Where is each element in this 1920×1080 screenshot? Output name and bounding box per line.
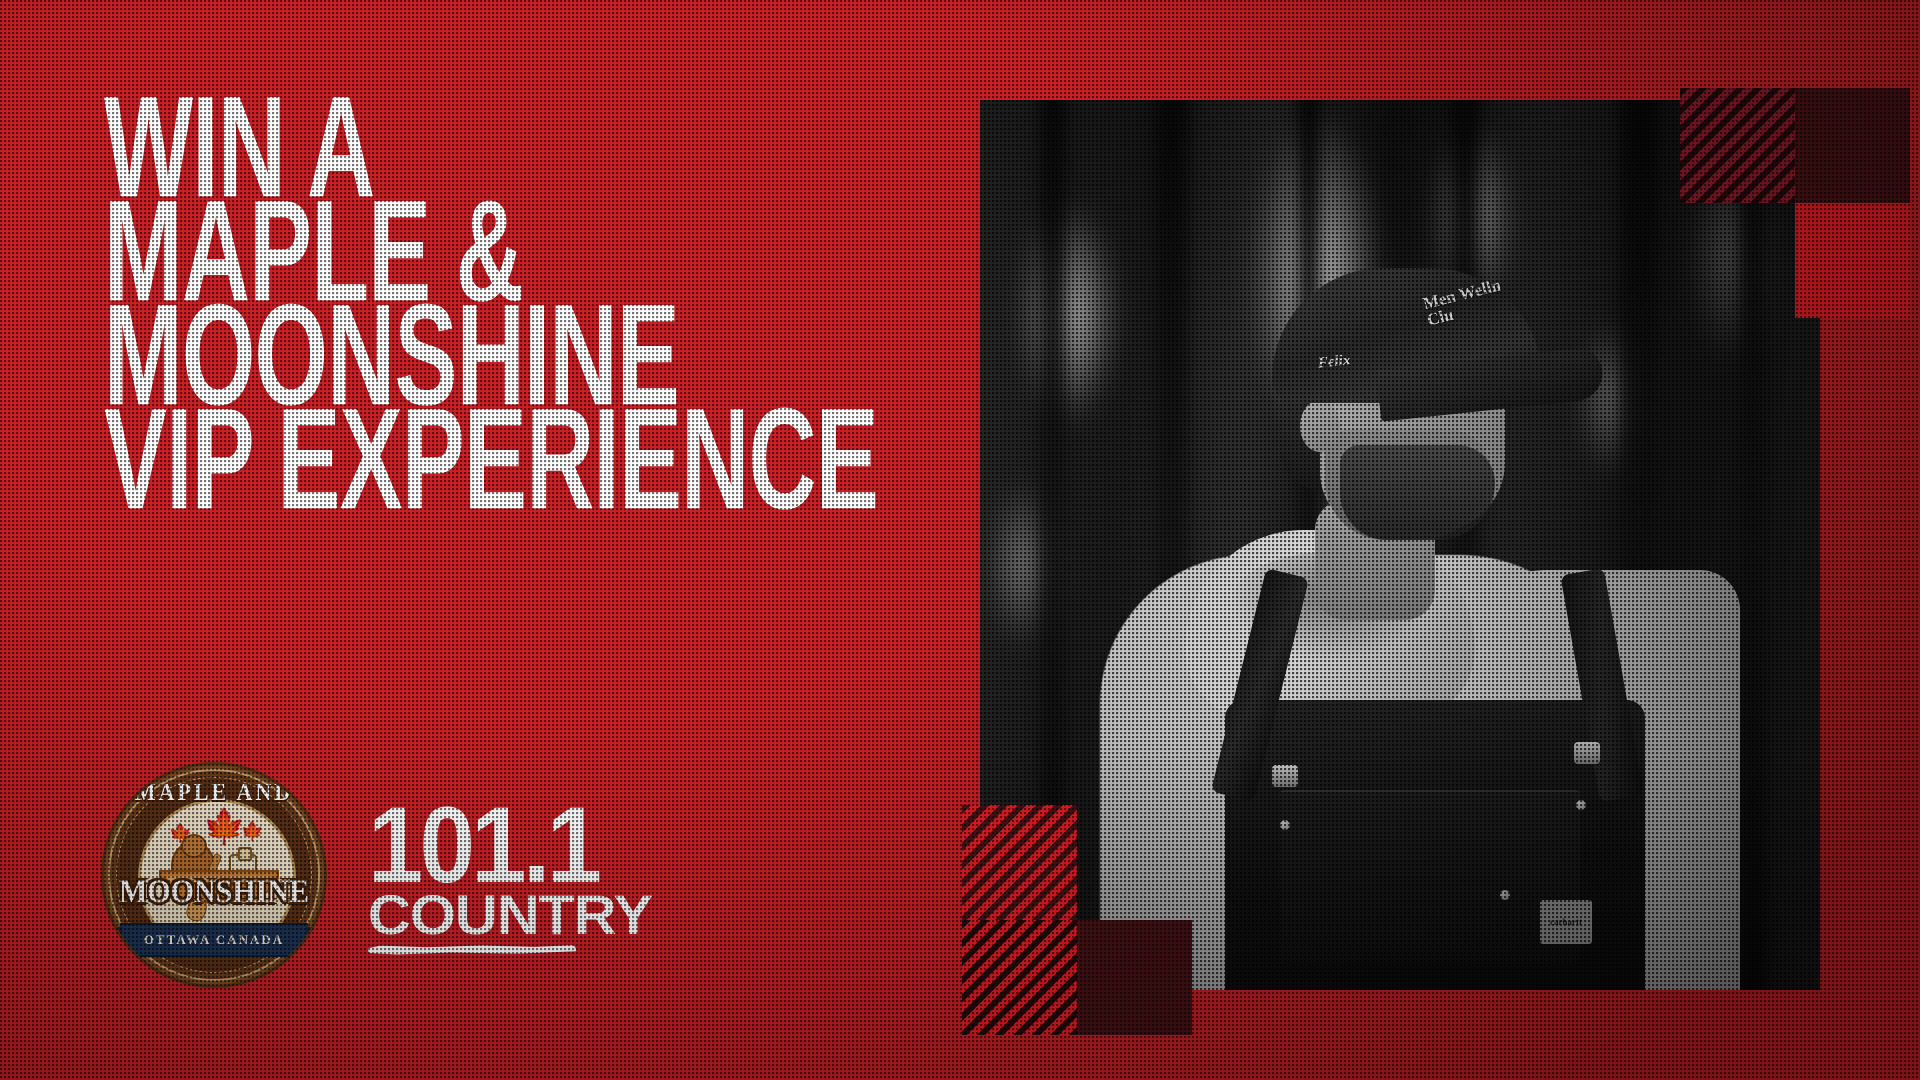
bib-pocket xyxy=(1280,790,1580,962)
rivet xyxy=(1576,800,1586,810)
cap-logo-text: Men Welln Clu xyxy=(1421,273,1518,328)
maple-leaf-icon-small: 🍁 xyxy=(241,822,263,840)
beard xyxy=(1340,445,1495,540)
logo-row: 🍁 🍁 🍁 XX MAPLE AND MOONSHINE OTTAWA CANA… xyxy=(104,765,636,985)
ear xyxy=(1300,400,1340,452)
square-striped-on-photo xyxy=(962,805,1077,920)
page-title: WIN A MAPLE & MOONSHINE VIP EXPERIENCE xyxy=(104,84,934,500)
radio-format: COUNTRY xyxy=(368,889,652,941)
deco-cluster-bottom-left xyxy=(962,805,1192,1035)
crest-ribbon-banner: OTTAWA CANADA xyxy=(120,923,308,957)
promo-banner: carhartt Men Welln Clu Felix WIN xyxy=(0,0,1920,1080)
square-striped-dark xyxy=(1680,88,1795,203)
carhartt-patch-label: carhartt xyxy=(1550,917,1582,927)
square-solid-maroon xyxy=(1077,920,1192,1035)
beaver-head xyxy=(181,834,207,858)
radio-station-logo[interactable]: 101.1 COUNTRY xyxy=(368,797,636,954)
crest-top-arc-text: MAPLE AND xyxy=(104,777,324,806)
strap-buckle-right xyxy=(1574,742,1600,764)
square-striped-red xyxy=(962,920,1077,1035)
deco-cluster-top-right xyxy=(1680,88,1910,318)
maple-and-moonshine-logo[interactable]: 🍁 🍁 🍁 XX MAPLE AND MOONSHINE OTTAWA CANA… xyxy=(104,765,324,985)
rivet xyxy=(1280,820,1290,830)
maple-leaf-icon: 🍁 xyxy=(203,810,245,844)
square-solid-red xyxy=(1795,203,1910,318)
strap-buckle-left xyxy=(1272,765,1298,787)
carhartt-patch: carhartt xyxy=(1540,900,1592,944)
rivet xyxy=(1500,890,1510,900)
square-solid-maroon xyxy=(1795,88,1910,203)
crest-center-text: MOONSHINE xyxy=(104,873,324,910)
radio-frequency: 101.1 xyxy=(368,803,614,887)
cap-script-text: Felix xyxy=(1317,352,1351,372)
headline-line-4: VIP EXPERIENCE xyxy=(104,396,768,523)
crest-banner-text: OTTAWA CANADA xyxy=(144,932,284,948)
